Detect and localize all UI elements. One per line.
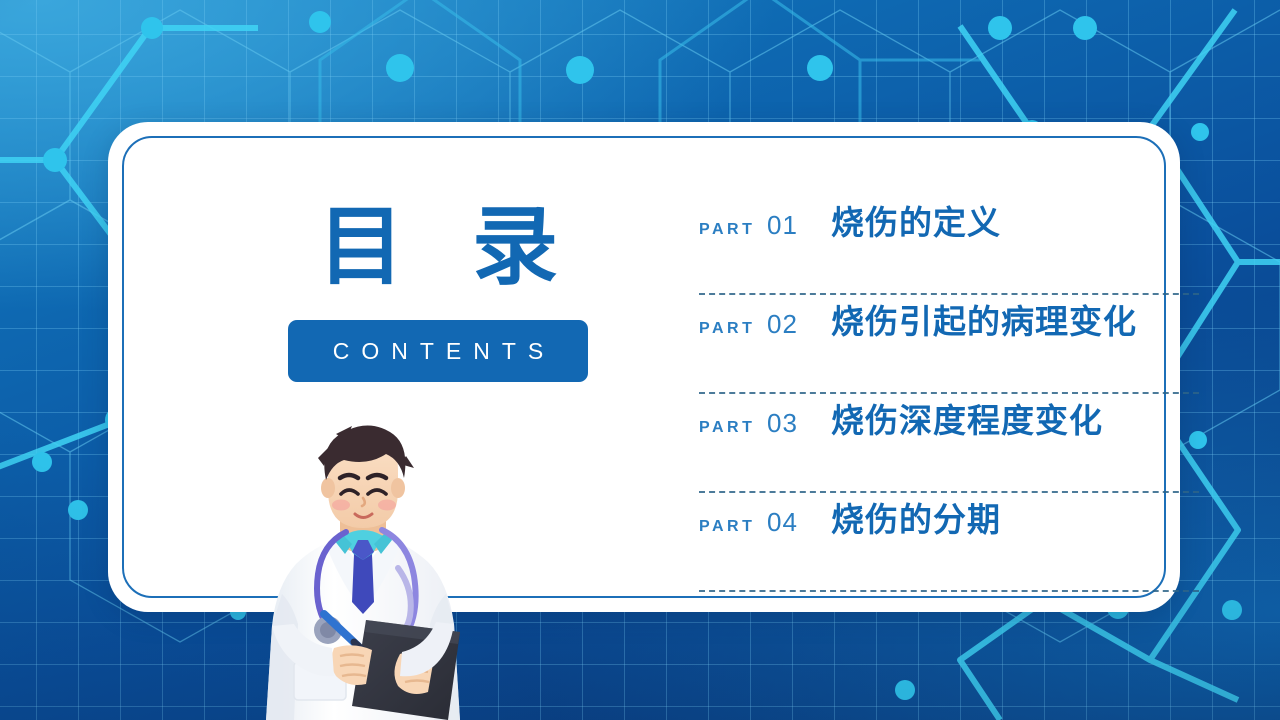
toc-item-03[interactable]: PART 03 烧伤深度程度变化	[699, 394, 1199, 491]
toc-part-label: PART	[699, 518, 753, 536]
toc-item-title: 烧伤的定义	[831, 196, 1001, 244]
contents-badge[interactable]: CONTENTS	[288, 320, 588, 382]
toc-part-label: PART	[699, 221, 753, 239]
toc-item-02[interactable]: PART 02 烧伤引起的病理变化	[699, 295, 1199, 392]
toc-part-label: PART	[699, 419, 753, 437]
contents-badge-label: CONTENTS	[321, 338, 556, 365]
toc-part-number: 04	[753, 507, 831, 538]
toc-item-title: 烧伤引起的病理变化	[831, 295, 1137, 343]
toc-part-label: PART	[699, 320, 753, 338]
toc-separator	[699, 590, 1199, 592]
toc-list: PART 01 烧伤的定义 PART 02 烧伤引起的病理变化 PART 03 …	[699, 196, 1199, 592]
toc-separator	[699, 293, 1199, 295]
toc-item-title: 烧伤深度程度变化	[831, 394, 1103, 442]
toc-part-number: 01	[753, 210, 831, 241]
toc-part-number: 02	[753, 309, 831, 340]
slide-root: 目 录 CONTENTS PART 01 烧伤的定义 PART 02 烧伤引起的…	[0, 0, 1280, 720]
title-block: 目 录 CONTENTS	[258, 202, 618, 382]
toc-item-title: 烧伤的分期	[831, 493, 1001, 541]
toc-separator	[699, 392, 1199, 394]
doctor-illustration	[248, 418, 478, 720]
page-title-cn: 目 录	[258, 202, 618, 292]
toc-item-01[interactable]: PART 01 烧伤的定义	[699, 196, 1199, 293]
toc-separator	[699, 491, 1199, 493]
toc-part-number: 03	[753, 408, 831, 439]
toc-item-04[interactable]: PART 04 烧伤的分期	[699, 493, 1199, 590]
